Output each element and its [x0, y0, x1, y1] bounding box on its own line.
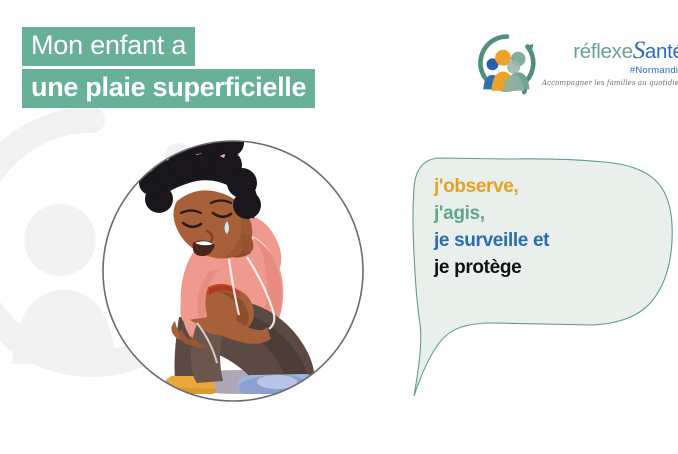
logo-mark-icon [474, 30, 540, 96]
page-title: Mon enfant a une plaie superficielle [22, 27, 315, 108]
bubble-line-observe: j'observe, [434, 174, 660, 201]
bubble-line-surveille: je surveille et [434, 228, 660, 255]
title-line-1: Mon enfant a [22, 27, 195, 66]
logo-tagline: Accompagner les familles au quotidien [542, 79, 678, 88]
logo-wordmark: réflexeSanté [573, 38, 678, 63]
title-line-2: une plaie superficielle [22, 69, 315, 108]
bubble-line-protege: je protège [434, 255, 660, 282]
brand-logo[interactable]: réflexeSanté #Normandie Accompagner les … [474, 30, 666, 104]
logo-hashtag: #Normandie [630, 65, 678, 76]
logo-word-s: S [633, 37, 645, 64]
illustration-child-injured-knee [101, 139, 365, 403]
speech-bubble-text: j'observe, j'agis, je surveille et je pr… [434, 174, 660, 282]
logo-word-ante: anté [645, 40, 678, 63]
speech-bubble: j'observe, j'agis, je surveille et je pr… [406, 152, 676, 402]
logo-word-reflexe: réflexe [573, 40, 632, 63]
poster-root: Mon enfant a une plaie superficielle [0, 0, 678, 454]
logo-wordmark-group: réflexeSanté #Normandie Accompagner les … [542, 30, 678, 87]
bubble-line-agis: j'agis, [434, 201, 660, 228]
